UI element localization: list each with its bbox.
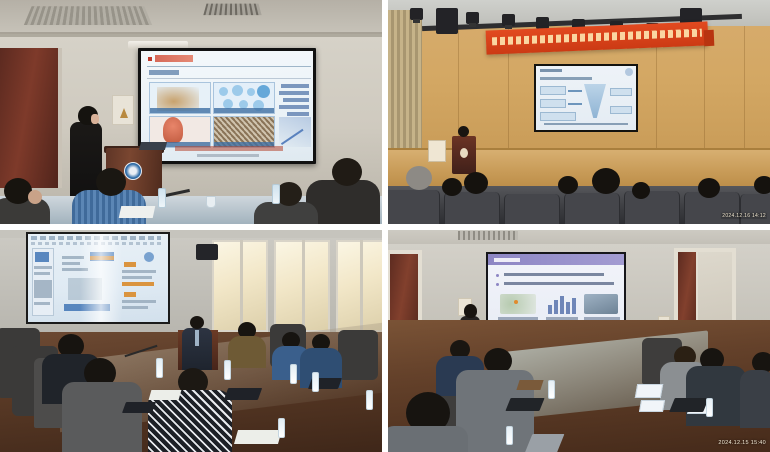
projection-screen-frame [534,64,638,132]
presenter-face [91,114,99,124]
bubble [219,87,228,96]
door [0,48,60,188]
presenter-head [190,316,204,329]
name-plate [635,384,663,398]
attendee-body [62,382,142,452]
attendee-head [754,176,770,194]
wall-panel-seam [704,26,705,166]
slide-line-chart [279,117,311,147]
slide-block [122,306,148,309]
attendee-head [592,168,620,194]
water-bottle [278,418,285,438]
institution-logo-icon [144,252,154,262]
university-seal-icon [124,162,142,180]
paper-document [119,206,156,218]
figure-b-caption [214,108,274,113]
timestamp-overlay: 2024.12.15 15:40 [718,440,766,446]
water-bottle [548,380,555,399]
slide-body-line [287,112,309,116]
bar-chart-figure [546,294,576,314]
water-bottle [290,364,297,384]
slide-body-line [281,84,309,88]
slide-subtitle-text [149,70,179,75]
slide-body-line [283,98,309,102]
seat [564,193,620,224]
slide-block [35,252,49,262]
stage-curtain [388,10,422,160]
slide-box [540,99,566,108]
slide-footer-subtext [197,154,259,157]
water-bottle [158,188,166,208]
spotlight-icon [410,8,423,20]
bar [548,305,552,314]
bubble [247,88,255,96]
name-plate [639,400,665,412]
window [336,240,382,332]
university-seal-icon [460,148,468,158]
attendee-head [698,178,720,198]
spotlight-icon [466,12,479,24]
arrow-icon [568,90,582,92]
paper-document [149,390,182,400]
attendee-head [332,158,362,186]
window-mullion [302,240,305,332]
seat [444,192,500,224]
slide-box [540,112,576,121]
attendee-body [228,336,266,368]
desk-item [516,380,543,390]
water-bottle [272,184,280,204]
slide-block [34,302,50,305]
slide-tag [124,292,136,297]
laptop [669,398,709,412]
water-bottle [156,358,163,378]
window-mullion [360,240,363,332]
paper-document [234,430,282,444]
slide-bullet-line [504,282,614,285]
wall-poster [112,95,134,125]
event-banner-text [492,29,702,46]
arrow-icon [568,103,582,105]
coral-illustration [163,117,183,143]
water-bottle [366,390,373,410]
world-map-figure [500,294,536,314]
projection-screen-frame [26,232,170,324]
projected-slide [28,234,168,322]
seat [388,190,440,224]
speaker-icon [436,8,458,34]
water-bottle [506,426,513,445]
slide-block [122,276,152,279]
banner-end-fold [704,30,715,46]
water-bottle [224,360,231,380]
attendee-body [388,426,468,452]
stage-side-poster [428,140,446,162]
slide-footer-text [175,146,283,151]
water-bottle [706,398,713,417]
laptop [122,402,156,413]
presenter-head [464,304,477,318]
slide-block [34,272,50,275]
photo-top-left-seminar-room [0,0,382,224]
photo-bottom-left-conference-room [0,230,382,452]
slide-footer-text [544,123,628,125]
presenter-head [458,126,469,137]
slide-body-line [279,105,309,109]
bubble [232,85,243,96]
attendee-head [464,172,488,194]
attendee-head [442,178,462,196]
attendee-head [96,168,126,196]
slide-block [62,262,80,265]
bar [572,298,576,314]
seat [504,194,560,224]
laptop [224,388,262,400]
satellite-photo-figure [584,294,618,314]
slide-highlight [122,282,154,286]
projected-slide [536,66,636,130]
slide-header-bar [488,254,624,265]
ceiling-vent-icon [203,4,261,16]
slide-bullet-icon [496,283,499,286]
attendee-body [686,366,746,426]
slide-title-text [540,69,562,72]
attendee-hand [28,190,42,204]
projected-slide [141,51,313,161]
slide-tag [124,262,136,267]
screen-glare [80,234,122,322]
laptop [505,398,544,411]
bar [566,302,570,314]
timestamp-overlay: 2024.12.16 14:12 [721,213,767,219]
funnel-diagram [584,84,606,118]
seat [624,191,680,224]
slide-body-line [540,77,592,80]
attendee-head [406,166,432,190]
seat [740,194,770,224]
window-mullion [240,240,243,332]
slide-box [540,86,566,95]
ceiling-vent-icon [458,231,518,240]
photo-collage: 2024.12.16 14:12 [0,0,770,452]
slide-bullet-line [504,273,604,276]
ceiling-grille-icon [24,6,152,25]
slide-block [34,266,52,269]
attendee-body [740,370,770,428]
slide-box [610,88,632,96]
slide-rule-2 [147,78,311,79]
slide-bullet-icon [148,57,152,61]
door-frame [58,48,62,188]
slide-box [610,106,632,114]
slide-title-text [155,55,193,62]
photo-top-right-auditorium: 2024.12.16 14:12 [388,0,770,224]
water-bottle [312,372,319,392]
bubble [257,85,270,98]
cup [206,196,216,208]
slide-rule [147,66,311,67]
institution-logo-icon [625,68,633,76]
spotlight-icon [502,14,515,26]
wall-speaker-icon [196,244,218,260]
presenter-tie [195,330,199,346]
wall-panel-seam [744,26,745,166]
figure-a-caption [150,108,210,113]
slide-chart [34,280,52,298]
chair [338,330,378,380]
slide-body-line [279,91,309,95]
slide-header-title-text [494,258,520,262]
wall-trim [0,32,382,37]
slide-block [122,270,156,273]
slide-bullet-icon [496,274,499,277]
attendee-head [632,182,650,199]
photo-bottom-right-conference-room: 2024.12.15 15:40 [388,230,770,452]
bar [560,296,564,314]
bar [554,300,558,314]
laptop [139,142,167,150]
attendee-head [558,176,578,194]
slide-block [122,300,156,303]
